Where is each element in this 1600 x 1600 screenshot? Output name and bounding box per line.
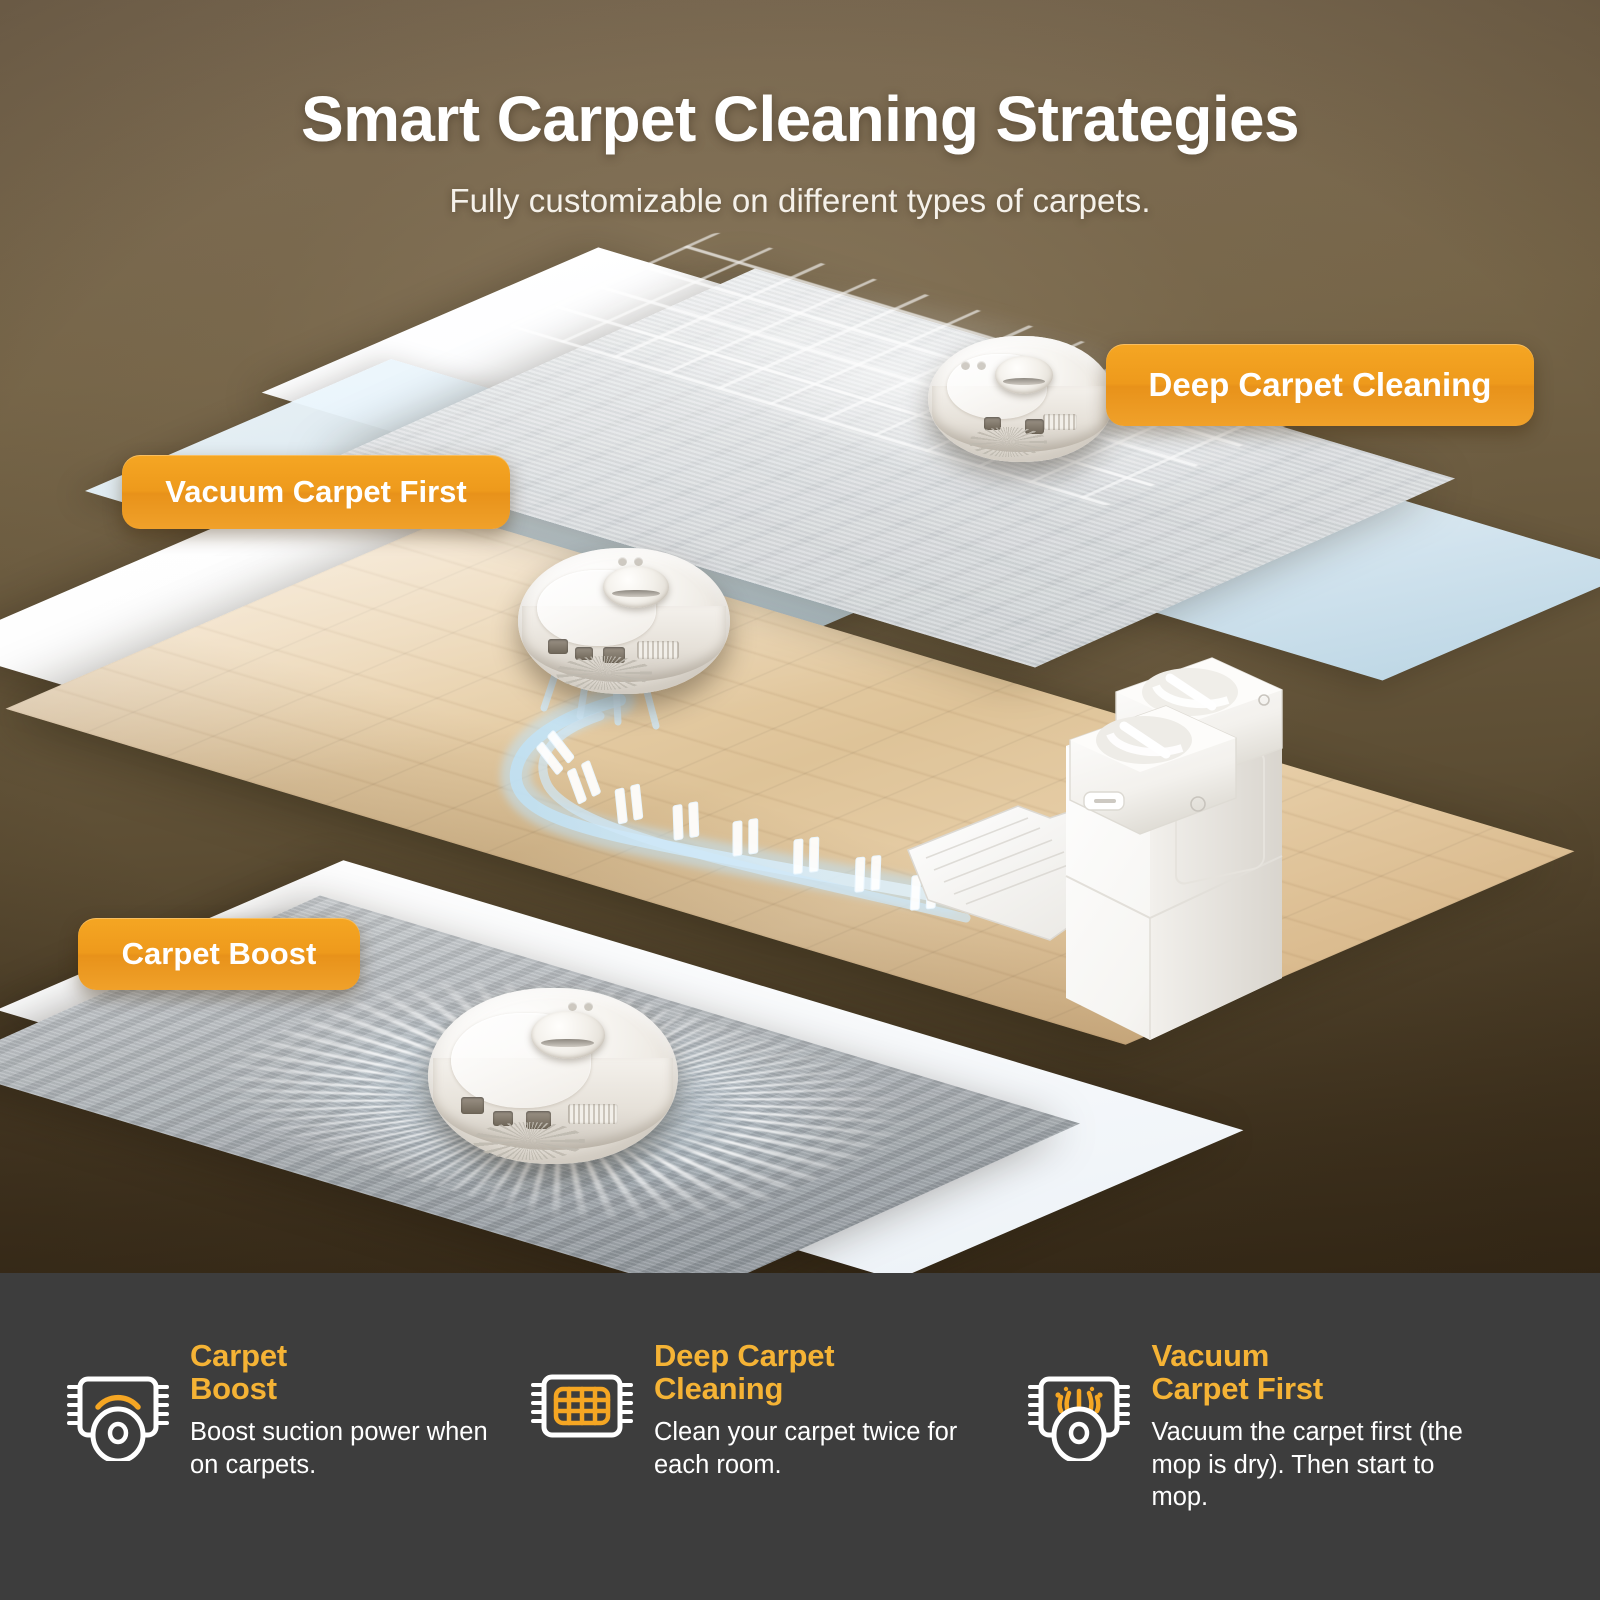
feature-carpet-boost: Carpet Boost Boost suction power when on… [56,1337,518,1481]
robot-vacuum-boost [428,988,678,1164]
feature-title-line1: Carpet [190,1338,287,1373]
feature-title: Deep Carpet Cleaning [654,1339,904,1406]
deep-carpet-cleaning-icon [528,1351,636,1461]
feature-title: Vacuum Carpet First [1151,1339,1411,1406]
badge-deep-label: Deep Carpet Cleaning [1149,366,1492,404]
feature-title-line2: Carpet First [1151,1371,1323,1406]
feature-deep-carpet-cleaning: Deep Carpet Cleaning Clean your carpet t… [518,1337,1009,1481]
feature-title: Carpet Boost [190,1339,440,1406]
feature-footer: Carpet Boost Boost suction power when on… [0,1273,1600,1600]
badge-deep-carpet-cleaning[interactable]: Deep Carpet Cleaning [1106,344,1534,426]
feature-title-line1: Vacuum [1151,1338,1269,1373]
feature-description: Boost suction power when on carpets. [190,1416,500,1481]
header: Smart Carpet Cleaning Strategies Fully c… [0,0,1600,220]
infographic-stage: Deep Carpet Cleaning Vacuum Carpet First… [0,0,1600,1600]
feature-title-line2: Boost [190,1371,277,1406]
feature-list: Carpet Boost Boost suction power when on… [0,1273,1600,1600]
feature-title-line1: Deep Carpet [654,1338,834,1373]
vacuum-carpet-first-icon [1025,1351,1133,1461]
badge-carpet-boost[interactable]: Carpet Boost [78,918,360,990]
carpet-boost-icon [64,1351,172,1461]
feature-description: Vacuum the carpet first (the mop is dry)… [1151,1416,1471,1514]
feature-title-line2: Cleaning [654,1371,783,1406]
feature-text: Deep Carpet Cleaning Clean your carpet t… [654,1337,964,1481]
page-subtitle: Fully customizable on different types of… [0,182,1600,220]
page-title: Smart Carpet Cleaning Strategies [0,82,1600,156]
badge-boost-label: Carpet Boost [122,936,317,972]
feature-text: Carpet Boost Boost suction power when on… [190,1337,500,1481]
badge-vacuum-label: Vacuum Carpet First [165,474,466,510]
feature-description: Clean your carpet twice for each room. [654,1416,964,1481]
feature-vacuum-carpet-first: Vacuum Carpet First Vacuum the carpet fi… [1009,1337,1560,1514]
robot-vacuum-mopping [518,548,730,694]
robot-vacuum-deep-clean [928,336,1114,462]
dock-svg [900,600,1300,1070]
feature-text: Vacuum Carpet First Vacuum the carpet fi… [1151,1337,1471,1514]
dock-station [900,600,1300,1070]
badge-vacuum-carpet-first[interactable]: Vacuum Carpet First [122,455,510,529]
